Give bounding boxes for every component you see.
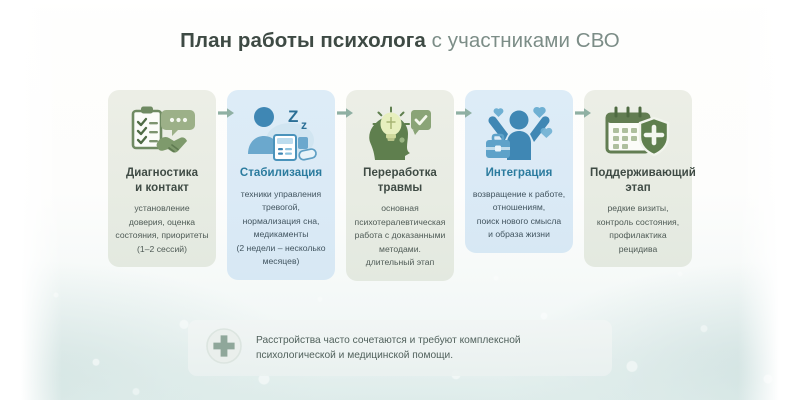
step-3-desc-line3: работа с доказанными bbox=[352, 229, 448, 242]
step-3-icon-group bbox=[352, 101, 448, 165]
step-4-desc-line2: отношениям, bbox=[471, 201, 567, 214]
summary-banner-text: Расстройства часто сочетаются и требуют … bbox=[256, 333, 521, 364]
handshake-icon bbox=[157, 137, 187, 153]
infographic-canvas: План работы психолога с участниками СВО bbox=[0, 0, 800, 400]
arrow-right-icon-3 bbox=[456, 107, 472, 119]
step-4-desc-line4: и образа жизни bbox=[471, 228, 567, 241]
step-5-desc-line4: рецидива bbox=[590, 243, 686, 256]
step-card-integration[interactable]: Интеграция возвращение к работе, отношен… bbox=[465, 90, 573, 253]
step-card-maintenance[interactable]: Поддерживающий этап редкие визиты, контр… bbox=[584, 90, 692, 267]
page-title: План работы психолога с участниками СВО bbox=[0, 28, 800, 54]
step-1-heading-line1: Диагностика bbox=[126, 167, 198, 179]
step-1-desc-line3: состояния, приоритеты bbox=[114, 229, 210, 242]
step-2-desc-line5: (2 недели – несколько bbox=[233, 242, 329, 255]
clipboard-check-icon bbox=[126, 104, 198, 162]
step-5-desc-line2: контроль состояния, bbox=[590, 216, 686, 229]
step-2-desc-line1: техники управления bbox=[233, 188, 329, 201]
page-title-strong: План работы психолога bbox=[180, 29, 426, 52]
step-5-icon-group bbox=[590, 101, 686, 165]
step-3-desc-line2: психотералевтическая bbox=[352, 216, 448, 229]
summary-banner-line2: психологической и медицинской помощи. bbox=[256, 348, 521, 364]
step-3-heading-line2: травмы bbox=[378, 182, 423, 194]
step-2-desc-line3: нормализация сна, bbox=[233, 215, 329, 228]
step-5-heading-line2: этап bbox=[625, 182, 650, 194]
step-5-heading: Поддерживающий этап bbox=[590, 166, 686, 195]
step-4-desc-line1: возвращение к работе, bbox=[471, 188, 567, 201]
step-4-heading: Интеграция bbox=[471, 166, 567, 181]
person-arms-raised-icon bbox=[484, 104, 554, 162]
arrow-right-icon-4 bbox=[575, 107, 591, 119]
step-3-heading: Переработка травмы bbox=[352, 166, 448, 195]
step-1-icon-group bbox=[114, 101, 210, 165]
step-5-heading-line1: Поддерживающий bbox=[590, 167, 696, 179]
step-2-heading: Стабилизация bbox=[233, 166, 329, 181]
steps-row: Диагностика и контакт установление довер… bbox=[108, 90, 692, 300]
step-card-diagnostics[interactable]: Диагностика и контакт установление довер… bbox=[108, 90, 216, 267]
step-5-desc-line3: профилактика bbox=[590, 229, 686, 242]
step-1-heading: Диагностика и контакт bbox=[114, 166, 210, 195]
svg-text:Z: Z bbox=[288, 107, 298, 126]
arrow-right-icon-2 bbox=[337, 107, 353, 119]
step-1-desc-line1: установление bbox=[114, 202, 210, 215]
step-2-icon-group: Z z bbox=[233, 101, 329, 165]
head-profile-icon bbox=[365, 104, 435, 162]
summary-banner: Расстройства часто сочетаются и требуют … bbox=[188, 320, 612, 376]
step-1-desc-line4: (1–2 сессий) bbox=[114, 243, 210, 256]
svg-text:z: z bbox=[301, 118, 307, 132]
arrow-right-icon-1 bbox=[218, 107, 234, 119]
step-2-desc-line2: тревогой, bbox=[233, 201, 329, 214]
checkbox-check-icon bbox=[411, 110, 431, 135]
step-3-heading-line1: Переработка bbox=[363, 167, 437, 179]
page-title-light: с участниками СВО bbox=[426, 29, 620, 52]
medical-cross-circle-icon bbox=[205, 327, 243, 370]
step-3-desc-line1: основная bbox=[352, 202, 448, 215]
summary-banner-line1: Расстройства часто сочетаются и требуют … bbox=[256, 333, 521, 349]
step-4-icon-group bbox=[471, 101, 567, 165]
briefcase-icon bbox=[486, 135, 510, 158]
step-4-desc-line3: поиск нового смысла bbox=[471, 215, 567, 228]
step-3-desc-line5: длительный этап bbox=[352, 256, 448, 269]
step-2-desc-line4: медикаменты bbox=[233, 228, 329, 241]
step-1-desc-line2: доверия, оценка bbox=[114, 216, 210, 229]
step-1-heading-line2: и контакт bbox=[135, 182, 189, 194]
step-card-stabilization[interactable]: Z z Ста bbox=[227, 90, 335, 280]
person-icon: Z z bbox=[244, 104, 318, 162]
step-5-desc-line1: редкие визиты, bbox=[590, 202, 686, 215]
step-card-trauma-processing[interactable]: Переработка травмы основная психотералев… bbox=[346, 90, 454, 281]
calendar-icon bbox=[602, 105, 674, 161]
step-2-desc-line6: месяцев) bbox=[233, 255, 329, 268]
step-3-desc-line4: методами. bbox=[352, 243, 448, 256]
speech-bubble-icon bbox=[161, 110, 195, 136]
shield-cross-icon bbox=[640, 118, 668, 155]
